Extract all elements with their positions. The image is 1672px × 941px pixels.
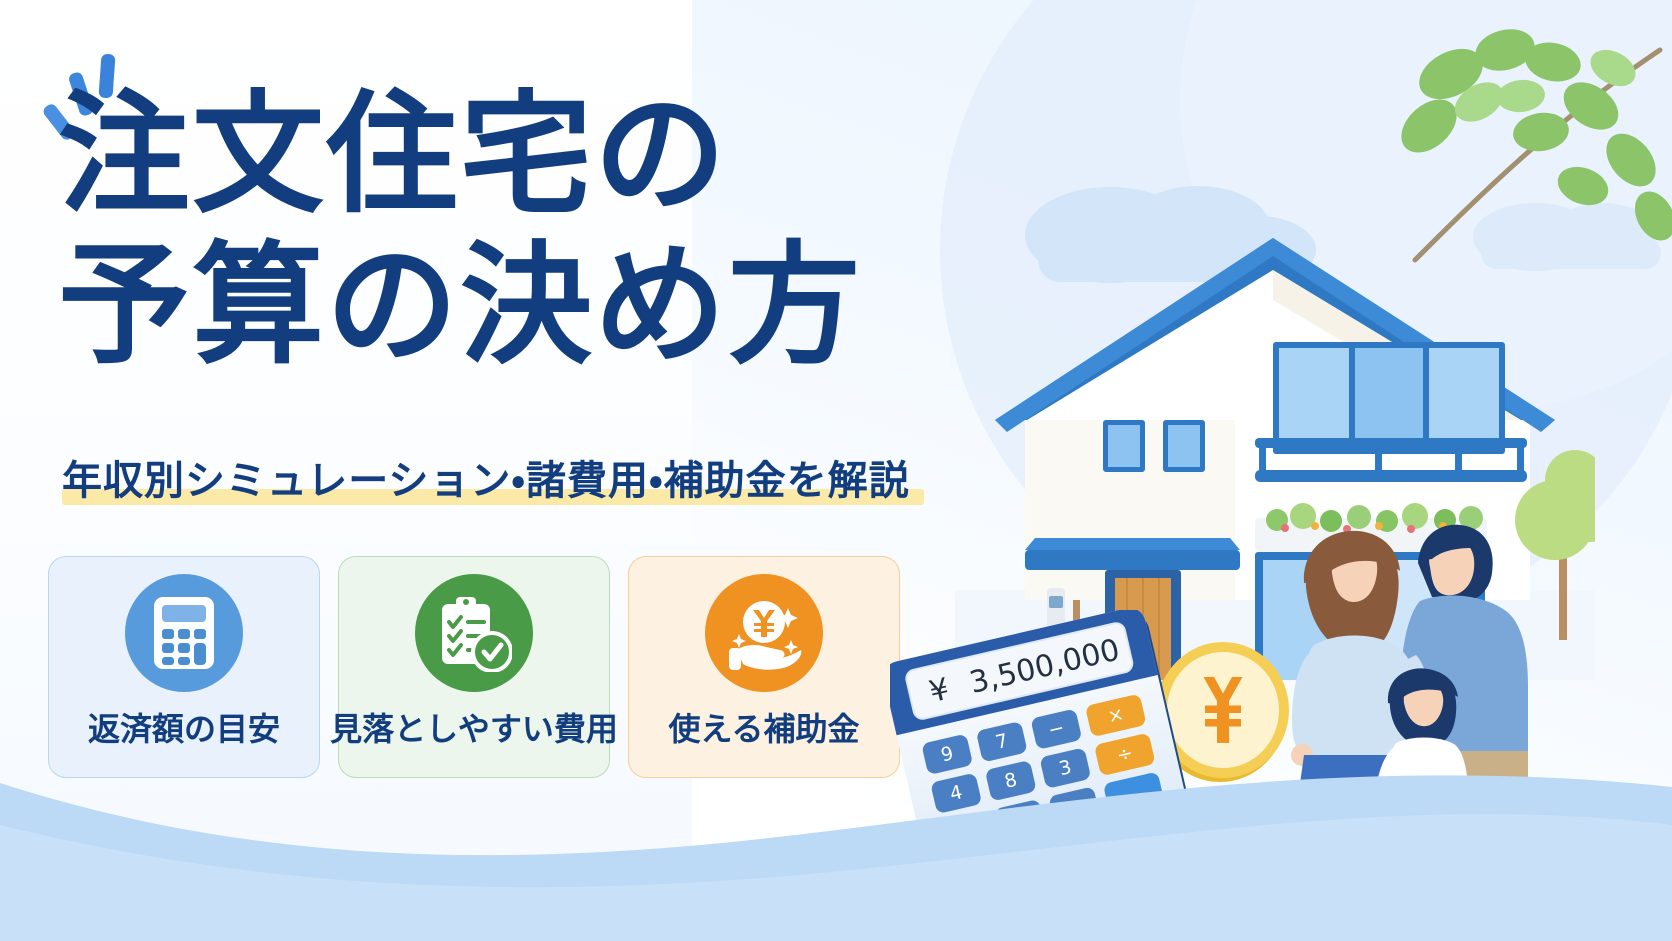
bottom-wave-decoration [0,721,1672,941]
subtitle-block: 年収別シミュレーション・諸費用・補助金を解説 [62,447,910,507]
subtitle-text: 年収別シミュレーション・諸費用・補助金を解説 [62,448,910,506]
hand-yen-coin-icon [723,594,805,672]
leaf-branch-decoration [1355,10,1672,270]
headline-block: 注文住宅の 予算の決め方 [58,88,978,373]
hand-coin-badge [705,574,823,692]
calculator-badge [125,574,243,692]
banner-root: 注文住宅の 予算の決め方 年収別シミュレーション・諸費用・補助金を解説 [0,0,1672,941]
calculator-icon [152,595,216,671]
clipboard-check-icon [436,594,512,672]
clipboard-badge [415,574,533,692]
title-line-2: 予算の決め方 [58,239,978,374]
title-line-1: 注文住宅の [58,88,978,223]
